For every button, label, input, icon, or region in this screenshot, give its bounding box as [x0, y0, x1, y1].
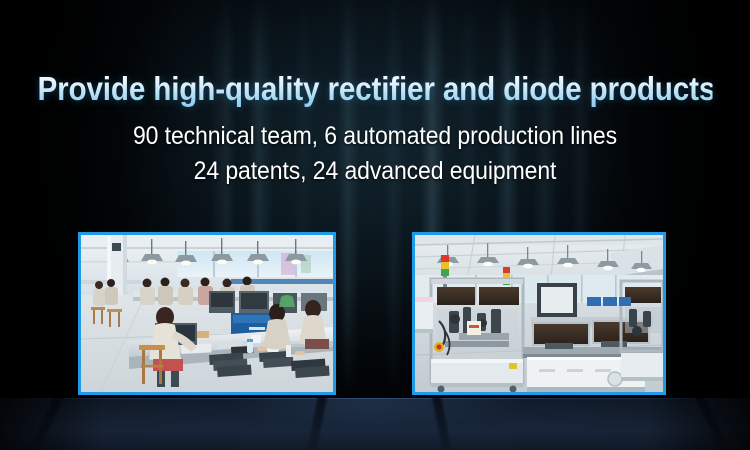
- photo-assembly-line-workers: [78, 232, 336, 395]
- floor-surface: [0, 398, 750, 450]
- floor-edge-shadow-left: [0, 398, 105, 450]
- promo-banner: Provide high-quality rectifier and diode…: [0, 0, 750, 450]
- floor-sheen: [0, 398, 750, 450]
- photo-automated-production-equipment: [412, 232, 666, 395]
- banner-headline: Provide high-quality rectifier and diode…: [38, 70, 713, 108]
- banner-subtitle-line-2: 24 patents, 24 advanced equipment: [30, 157, 720, 186]
- floor-edge-shadow-right: [645, 398, 750, 450]
- production-equipment-illustration: [415, 235, 663, 392]
- assembly-line-illustration: [81, 235, 333, 392]
- banner-subtitle-line-1: 90 technical team, 6 automated productio…: [30, 122, 720, 151]
